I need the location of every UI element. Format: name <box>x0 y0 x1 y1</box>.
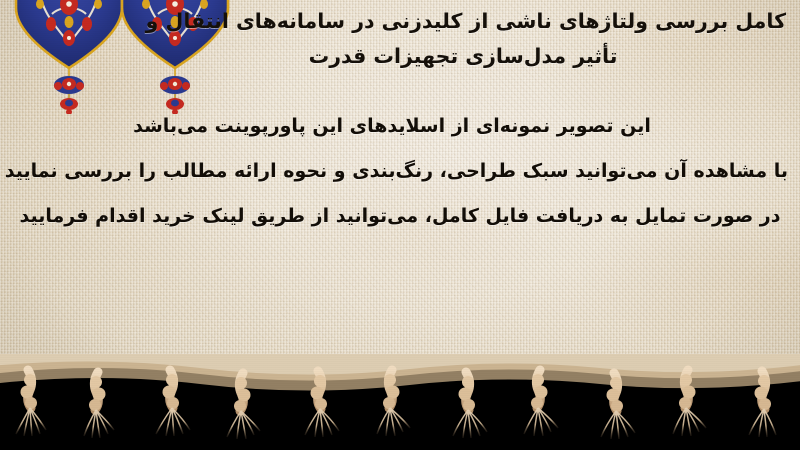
body-line-3: در صورت تمایل به دریافت فایل کامل، می‌تو… <box>12 194 788 239</box>
persian-tazhib-pendant-icon <box>10 0 128 114</box>
slide-canvas: کامل بررسی ولتاژهای ناشی از کلیدزنی در س… <box>0 0 800 450</box>
carpet-tassel-fringe-icon <box>0 354 800 450</box>
body-line-2: با مشاهده آن می‌توانید سبک طراحی، رنگ‌بن… <box>12 149 788 194</box>
carpet-fringe-band <box>0 354 800 450</box>
body-line-1: این تصویر نمونه‌ای از اسلایدهای این پاور… <box>12 104 772 149</box>
slide-title: کامل بررسی ولتاژهای ناشی از کلیدزنی در س… <box>210 4 786 75</box>
title-line-1: کامل بررسی ولتاژهای ناشی از کلیدزنی در س… <box>210 4 786 39</box>
title-line-2: تأثیر مدل‌سازی تجهیزات قدرت <box>210 39 716 74</box>
slide-body: این تصویر نمونه‌ای از اسلایدهای این پاور… <box>12 104 788 240</box>
